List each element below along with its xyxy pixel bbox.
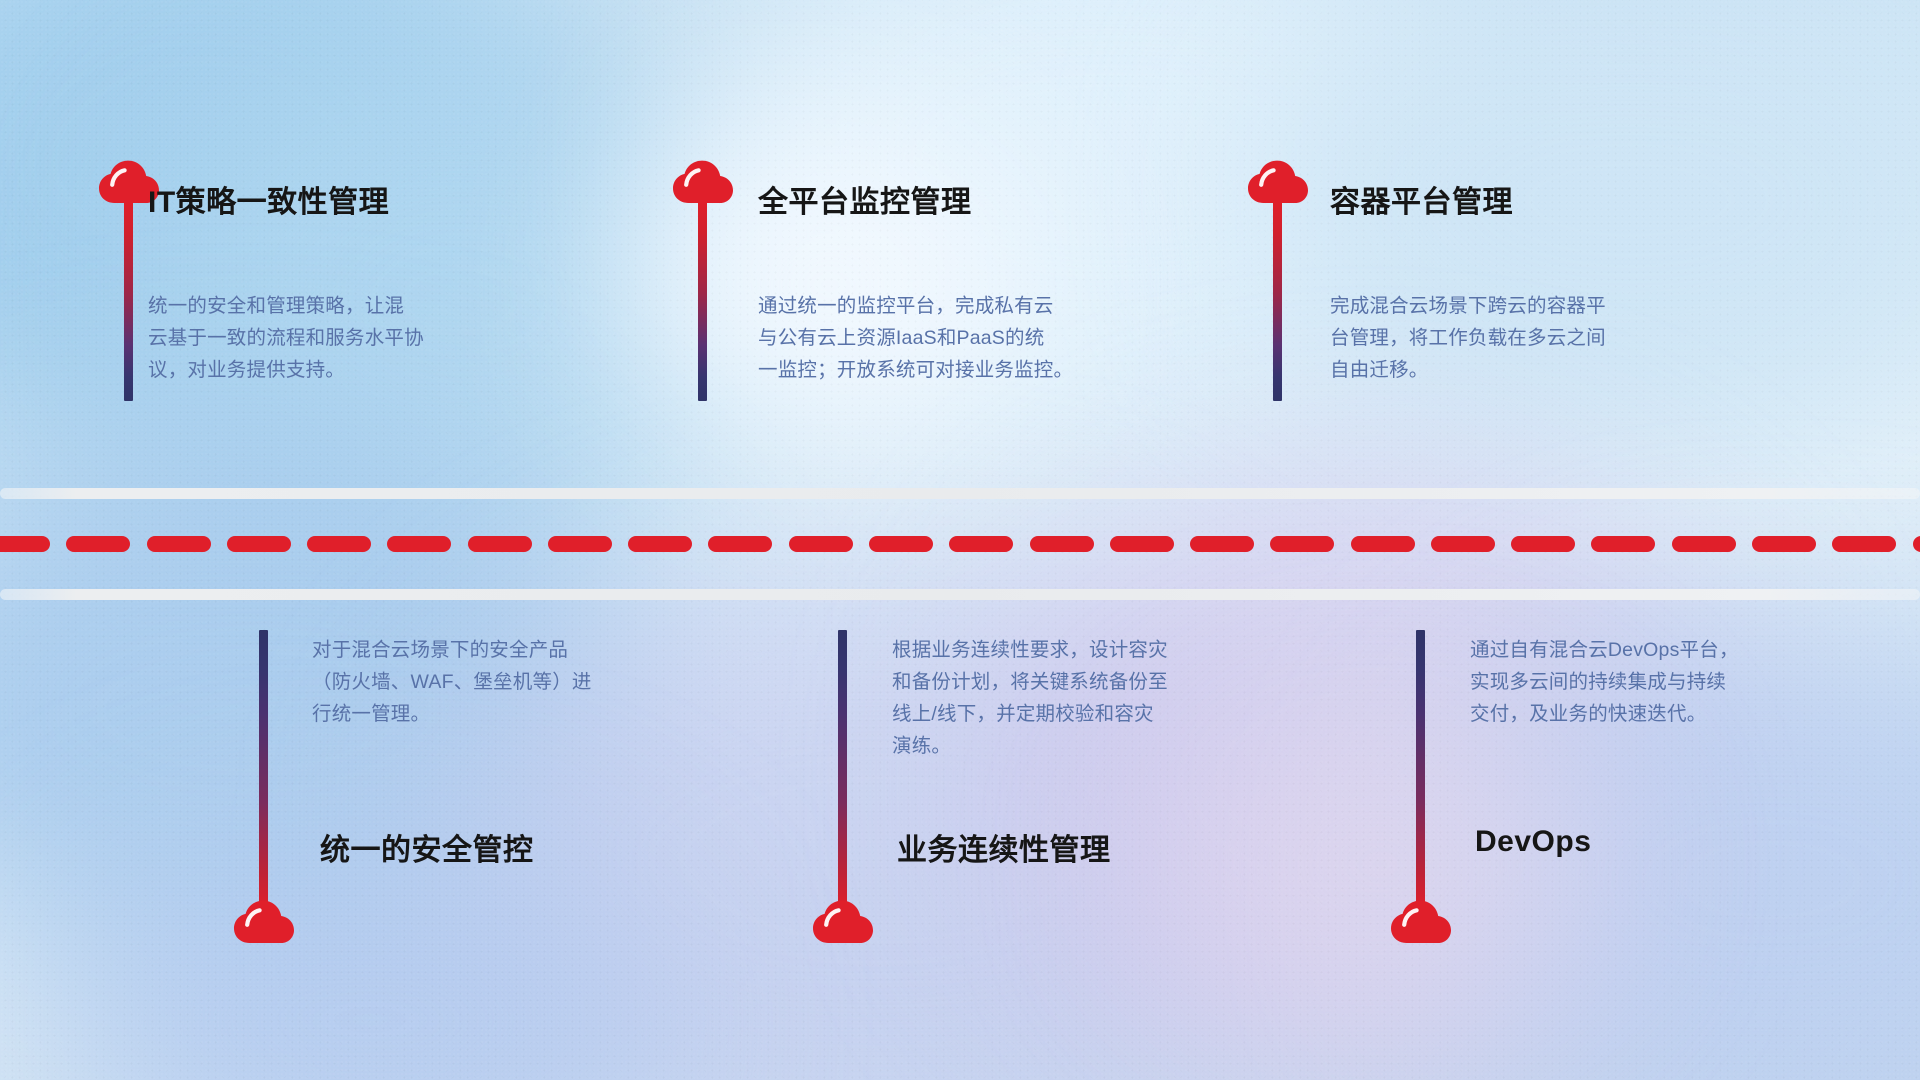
road-dash-segment (869, 536, 933, 552)
road-dash-segment (468, 536, 532, 552)
pin-stem (124, 201, 133, 401)
pin-stem (698, 201, 707, 401)
road-dash-segment (1752, 536, 1816, 552)
pin-stem (259, 630, 268, 908)
body-line: 演练。 (892, 730, 1168, 762)
body-line: 通过自有混合云DevOps平台， (1470, 634, 1739, 666)
body-line: 云基于一致的流程和服务水平协 (148, 322, 424, 354)
road-dash-segment (1832, 536, 1896, 552)
body-line: 行统一管理。 (312, 698, 592, 730)
road-dash-segment (949, 536, 1013, 552)
body-line: 完成混合云场景下跨云的容器平 (1330, 290, 1606, 322)
road-dash-segment (227, 536, 291, 552)
road-dash-segment (307, 536, 371, 552)
cloud-icon (1247, 160, 1309, 204)
road-dash-segment (1270, 536, 1334, 552)
body-line: 与公有云上资源IaaS和PaaS的统 (758, 322, 1073, 354)
cloud-icon (233, 900, 295, 944)
panel-body: 通过自有混合云DevOps平台， 实现多云间的持续集成与持续 交付，及业务的快速… (1470, 634, 1739, 730)
road-dash-segment (147, 536, 211, 552)
body-line: 台管理，将工作负载在多云之间 (1330, 322, 1606, 354)
body-line: （防火墙、WAF、堡垒机等）进 (312, 666, 592, 698)
road-dash-segment (1351, 536, 1415, 552)
panel-title: 业务连续性管理 (897, 825, 1111, 869)
body-line: 交付，及业务的快速迭代。 (1470, 698, 1739, 730)
road-dash-segment (1511, 536, 1575, 552)
panel-title: 容器平台管理 (1330, 177, 1513, 221)
body-line: 线上/线下，并定期校验和容灾 (892, 698, 1168, 730)
road-edge-line-bottom (0, 589, 1920, 600)
body-line: 通过统一的监控平台，完成私有云 (758, 290, 1073, 322)
cloud-icon (672, 160, 734, 204)
road-dash-segment (66, 536, 130, 552)
road-dash-segment (1591, 536, 1655, 552)
road-dash-segment (1110, 536, 1174, 552)
body-line: 一监控；开放系统可对接业务监控。 (758, 354, 1073, 386)
pin-stem (838, 630, 847, 908)
road-dash-segment (1672, 536, 1736, 552)
panel-title: DevOps (1475, 825, 1591, 859)
panel-title: 统一的安全管控 (320, 825, 534, 869)
cloud-icon (1390, 900, 1452, 944)
road-dash-segment (1913, 536, 1920, 552)
road-dash-segment (1431, 536, 1495, 552)
panel-body: 根据业务连续性要求，设计容灾 和备份计划，将关键系统备份至 线上/线下，并定期校… (892, 634, 1168, 762)
road-center-dashes (0, 536, 1920, 552)
road-dash-segment (708, 536, 772, 552)
panel-title: 全平台监控管理 (758, 177, 972, 221)
panel-title: IT策略一致性管理 (148, 177, 389, 221)
panel-body: 完成混合云场景下跨云的容器平 台管理，将工作负载在多云之间 自由迁移。 (1330, 290, 1606, 386)
road-dash-segment (1030, 536, 1094, 552)
body-line: 对于混合云场景下的安全产品 (312, 634, 592, 666)
panel-body: 对于混合云场景下的安全产品 （防火墙、WAF、堡垒机等）进 行统一管理。 (312, 634, 592, 730)
body-line: 和备份计划，将关键系统备份至 (892, 666, 1168, 698)
road-dash-segment (1190, 536, 1254, 552)
panel-body: 统一的安全和管理策略，让混 云基于一致的流程和服务水平协 议，对业务提供支持。 (148, 290, 424, 386)
cloud-icon (812, 900, 874, 944)
body-line: 统一的安全和管理策略，让混 (148, 290, 424, 322)
road-dash-segment (628, 536, 692, 552)
road-dash-segment (789, 536, 853, 552)
road-dash-segment (548, 536, 612, 552)
panel-body: 通过统一的监控平台，完成私有云 与公有云上资源IaaS和PaaS的统 一监控；开… (758, 290, 1073, 386)
road-edge-line-top (0, 488, 1920, 499)
body-line: 根据业务连续性要求，设计容灾 (892, 634, 1168, 666)
body-line: 自由迁移。 (1330, 354, 1606, 386)
road-dash-segment (0, 536, 50, 552)
pin-stem (1416, 630, 1425, 908)
road-divider (0, 488, 1920, 600)
body-line: 实现多云间的持续集成与持续 (1470, 666, 1739, 698)
pin-stem (1273, 201, 1282, 401)
road-dash-segment (387, 536, 451, 552)
body-line: 议，对业务提供支持。 (148, 354, 424, 386)
